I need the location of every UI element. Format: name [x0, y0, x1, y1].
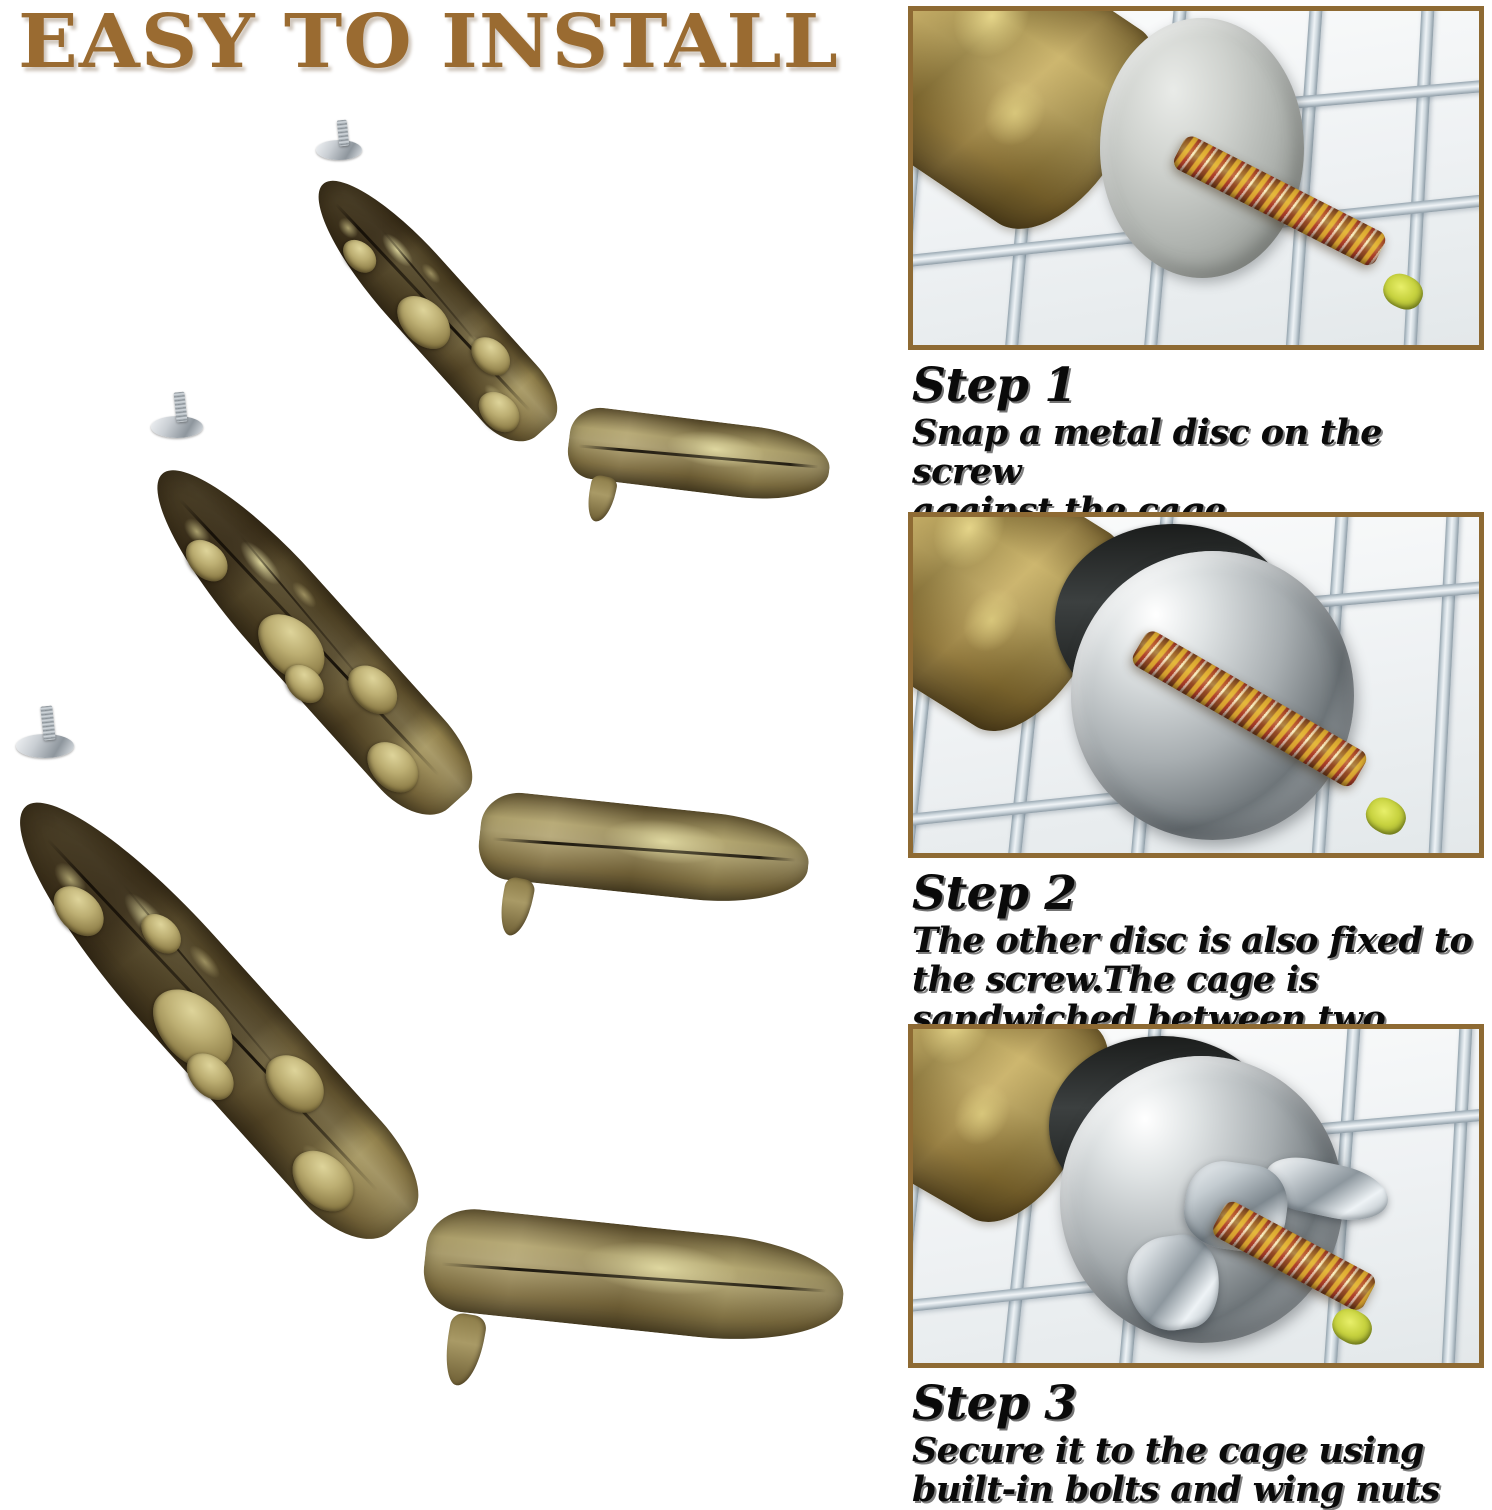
perch-spur — [440, 1311, 488, 1388]
perch-shaft — [0, 771, 440, 1262]
step-3-photo — [908, 1024, 1484, 1368]
screw-bolt — [40, 705, 55, 740]
step-3-photo-scene — [913, 1029, 1479, 1363]
step-3-caption: Step 3 Secure it to the cage using built… — [908, 1368, 1484, 1509]
step-3-body: Secure it to the cage using built-in bol… — [912, 1431, 1482, 1509]
step-1-block: Step 1 Snap a metal disc on the screw ag… — [908, 6, 1484, 531]
screw-bolt — [173, 392, 187, 423]
screw-bolt — [337, 120, 350, 147]
cage-vertical-bar — [1437, 1029, 1474, 1363]
perch-mounting-screw — [14, 706, 90, 768]
step-1-title: Step 1 — [912, 362, 1482, 409]
step-2-photo — [908, 512, 1484, 858]
wood-knob — [337, 233, 382, 279]
cage-vertical-bar — [1425, 517, 1463, 853]
wood-knob — [179, 531, 236, 589]
infographic-page: EASY TO INSTALL — [0, 0, 1492, 1500]
step-1-photo-scene — [913, 11, 1479, 345]
step-2-title: Step 2 — [912, 870, 1482, 917]
step-1-caption: Step 1 Snap a metal disc on the screw ag… — [908, 350, 1484, 531]
step-3-block: Step 3 Secure it to the cage using built… — [908, 1024, 1484, 1509]
fork-crack — [441, 1262, 827, 1292]
page-title: EASY TO INSTALL — [18, 4, 900, 82]
step-2-photo-scene — [913, 517, 1479, 853]
wood-knob — [281, 1138, 365, 1223]
product-perch-large — [0, 706, 894, 1446]
step-1-photo — [908, 6, 1484, 350]
installation-steps-panel: Step 1 Snap a metal disc on the screw ag… — [900, 0, 1492, 1500]
product-showcase-panel: EASY TO INSTALL — [0, 0, 900, 1500]
step-2-block: Step 2 The other disc is also fixed to t… — [908, 512, 1484, 1078]
perch-mounting-screw — [149, 392, 217, 448]
wood-knob — [45, 876, 114, 946]
perch-mounting-screw — [314, 120, 374, 168]
step-3-title: Step 3 — [912, 1380, 1482, 1427]
